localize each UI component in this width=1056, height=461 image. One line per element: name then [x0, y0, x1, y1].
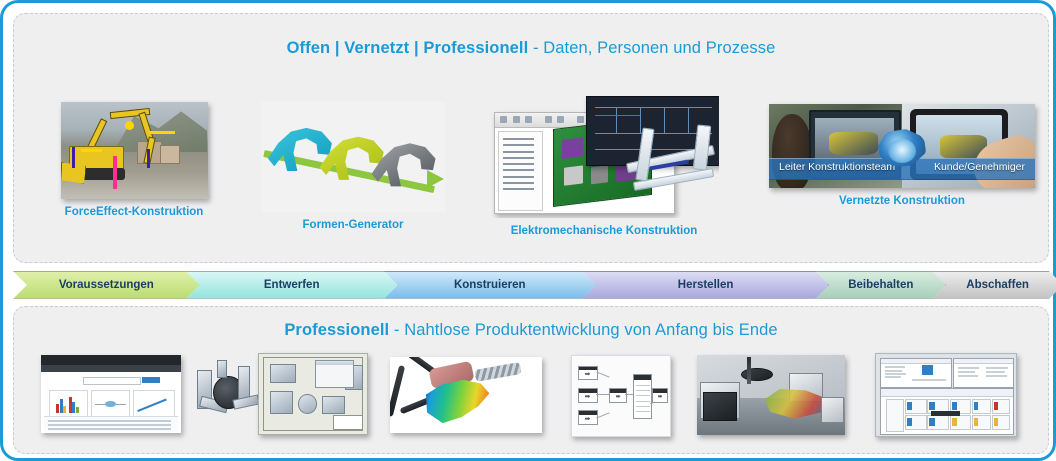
process-step-voraussetzungen[interactable]: Voraussetzungen	[13, 271, 200, 299]
process-step-label: Konstruieren	[454, 279, 526, 291]
bottom-panel-title: Professionell - Nahtlose Produktentwickl…	[14, 321, 1048, 340]
cnc-machining-simulation-render[interactable]	[697, 355, 845, 435]
process-step-abschaffen[interactable]: Abschaffen	[932, 271, 1056, 299]
top-title-strong: Offen | Vernetzt | Professionell	[287, 39, 529, 57]
infographic-root: Offen | Vernetzt | Professionell - Daten…	[0, 0, 1056, 461]
mechanical-assembly-3d-render[interactable]	[193, 357, 265, 429]
process-step-label: Herstellen	[678, 279, 734, 291]
plm-data-management-dashboard-screenshot[interactable]	[875, 353, 1017, 437]
process-step-label: Entwerfen	[264, 279, 320, 291]
process-step-herstellen[interactable]: Herstellen	[582, 271, 830, 299]
electromechanical-cad-screenshot	[489, 96, 719, 218]
process-step-beibehalten[interactable]: Beibehalten	[815, 271, 946, 299]
generative-shape-study-render	[261, 102, 446, 212]
workflow-process-diagram[interactable]	[571, 355, 671, 437]
top-item-caption: Formen-Generator	[242, 219, 464, 231]
process-chevron-bar: VoraussetzungenEntwerfenKonstruierenHers…	[13, 271, 1049, 299]
top-item-connected-design[interactable]: Leiter Konstruktionsteam Kunde/Genehmige…	[754, 104, 1050, 207]
process-step-label: Voraussetzungen	[59, 279, 154, 291]
process-step-label: Abschaffen	[966, 279, 1029, 291]
top-item-caption: Vernetzte Konstruktion	[754, 195, 1050, 207]
top-item-electromechanical[interactable]: Elektromechanische Konstruktion	[469, 96, 739, 237]
process-step-label: Beibehalten	[848, 279, 913, 291]
top-item-caption: Elektromechanische Konstruktion	[469, 225, 739, 237]
overlay-caption-right: Kunde/Genehmiger	[934, 161, 1025, 173]
top-item-forceeffect[interactable]: ForceEffect-Konstruktion	[34, 102, 234, 218]
top-item-caption: ForceEffect-Konstruktion	[34, 206, 234, 218]
connected-design-collaboration-photo: Leiter Konstruktionsteam Kunde/Genehmige…	[769, 104, 1035, 188]
bottom-title-strong: Professionell	[284, 321, 389, 339]
process-step-entwerfen[interactable]: Entwerfen	[186, 271, 398, 299]
bottom-title-rest: - Nahtlose Produktentwicklung von Anfang…	[389, 321, 777, 339]
top-panel: Offen | Vernetzt | Professionell - Daten…	[13, 13, 1049, 263]
excavator-force-analysis-photo	[61, 102, 208, 199]
fea-stress-analysis-render[interactable]	[390, 357, 542, 433]
technical-drawing-sheet-screenshot[interactable]	[258, 353, 368, 435]
top-item-shape-generator[interactable]: Formen-Generator	[242, 102, 464, 231]
top-panel-title: Offen | Vernetzt | Professionell - Daten…	[14, 39, 1048, 58]
top-title-rest: - Daten, Personen und Prozesse	[528, 39, 775, 57]
process-step-konstruieren[interactable]: Konstruieren	[384, 271, 596, 299]
requirements-web-dashboard-screenshot[interactable]	[41, 355, 181, 433]
collaboration-swirl-icon	[874, 127, 930, 175]
